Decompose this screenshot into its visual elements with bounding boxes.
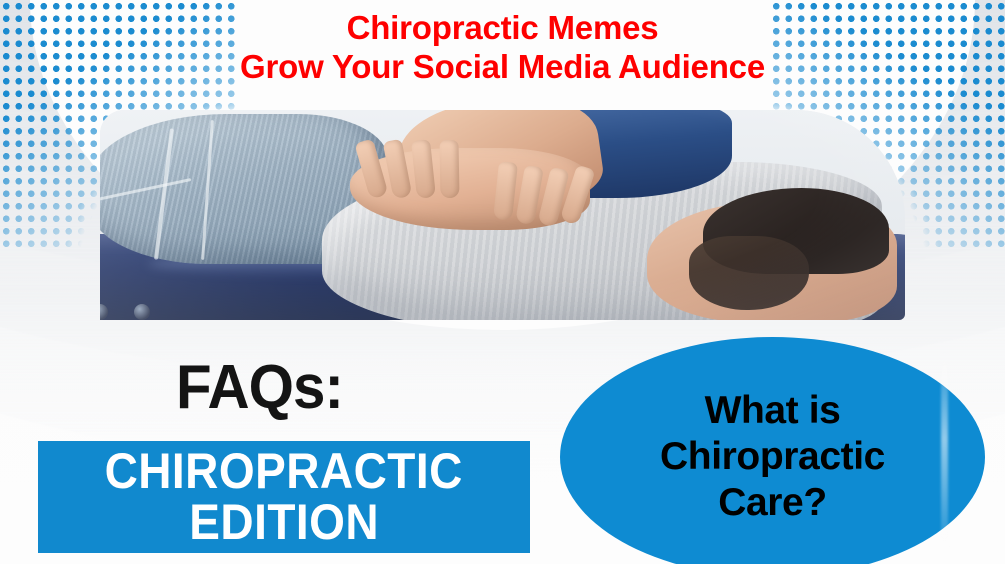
- question-line-2: Chiropractic: [586, 434, 959, 480]
- slide-canvas: Chiropractic Memes Grow Your Social Medi…: [0, 0, 1005, 564]
- edition-band-line-2: EDITION: [189, 498, 379, 547]
- question-line-3: Care?: [586, 480, 959, 526]
- chiropractic-photo: [100, 110, 905, 320]
- question-bubble-text: What is Chiropractic Care?: [560, 388, 985, 526]
- photo-vignette: [100, 110, 905, 320]
- chiropractic-edition-band: CHIROPRACTIC EDITION: [38, 441, 530, 553]
- question-bubble: What is Chiropractic Care?: [560, 337, 985, 564]
- faqs-heading: FAQs:: [176, 352, 343, 423]
- question-line-1: What is: [586, 388, 959, 434]
- edition-band-line-1: CHIROPRACTIC: [105, 447, 463, 496]
- photo-inner: [100, 110, 905, 320]
